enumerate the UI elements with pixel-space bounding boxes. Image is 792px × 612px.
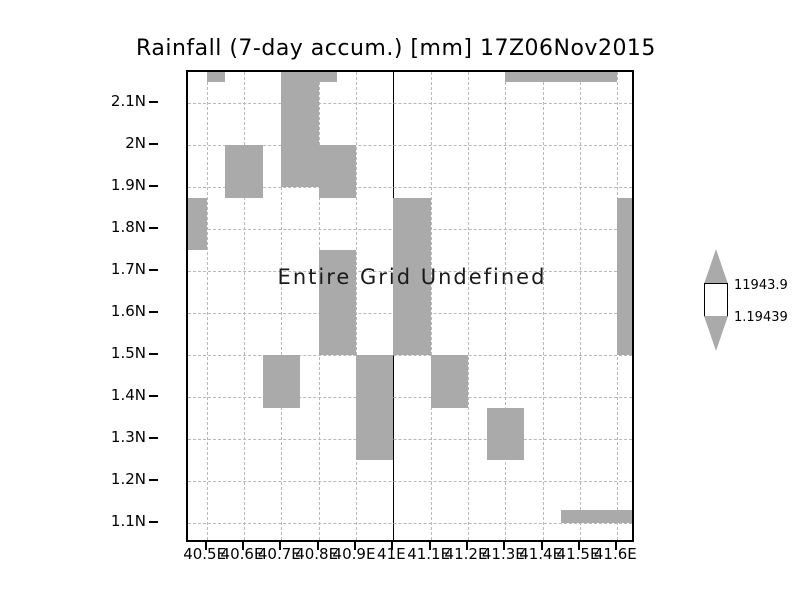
gridline-horizontal (188, 481, 632, 482)
gridline-vertical (580, 72, 581, 540)
colorbar-box (704, 283, 728, 317)
gridline-vertical (356, 72, 357, 540)
x-axis-label: 41.6E (588, 545, 642, 563)
page-title: Rainfall (7-day accum.) [mm] 17Z06Nov201… (0, 36, 792, 61)
heatmap-cell (281, 72, 337, 82)
heatmap-cell (281, 82, 318, 187)
undefined-notice: Entire Grid Undefined (188, 265, 634, 289)
y-axis-label: 1.2N (66, 470, 146, 488)
colorbar-low-label: 1.19439 (734, 310, 788, 325)
heatmap-cell (487, 408, 524, 460)
y-axis-label: 1.1N (66, 512, 146, 530)
y-axis-label: 2N (66, 134, 146, 152)
heatmap-cell (225, 145, 262, 197)
heatmap-cell (319, 145, 356, 197)
heatmap-cell (207, 72, 226, 82)
y-axis-label: 1.6N (66, 302, 146, 320)
y-axis-label: 1.3N (66, 428, 146, 446)
y-axis-label: 1.9N (66, 176, 146, 194)
y-axis-tick (149, 227, 158, 229)
gridline-vertical (543, 72, 544, 540)
gridline-horizontal (188, 103, 632, 104)
heatmap-cell (431, 355, 468, 407)
y-axis-label: 1.4N (66, 386, 146, 404)
colorbar-arrow-up-icon (704, 249, 728, 284)
colorbar-legend[interactable]: 11943.9 1.19439 (704, 250, 728, 350)
y-axis-tick (149, 479, 158, 481)
colorbar-arrow-down-icon (704, 316, 728, 351)
heatmap-cell (505, 72, 617, 82)
y-axis-tick (149, 185, 158, 187)
chart-canvas: Rainfall (7-day accum.) [mm] 17Z06Nov201… (0, 0, 792, 612)
colorbar-high-label: 11943.9 (734, 278, 788, 293)
plot-area[interactable]: Entire Grid Undefined (186, 70, 634, 542)
gridline-vertical (207, 72, 208, 540)
heatmap-cell (561, 510, 634, 523)
gridline-horizontal (188, 523, 632, 524)
gridline-horizontal (188, 439, 632, 440)
gridline-vertical (244, 72, 245, 540)
y-axis-label: 1.7N (66, 260, 146, 278)
y-axis-label: 2.1N (66, 92, 146, 110)
y-axis-label: 1.8N (66, 218, 146, 236)
y-axis-label: 1.5N (66, 344, 146, 362)
heatmap-cell (356, 355, 393, 460)
gridline-vertical (505, 72, 506, 540)
gridline-vertical (431, 72, 432, 540)
y-axis-tick (149, 311, 158, 313)
gridline-horizontal (188, 397, 632, 398)
y-axis-tick (149, 143, 158, 145)
y-axis-tick (149, 521, 158, 523)
heatmap-cell (393, 198, 430, 250)
y-axis-tick (149, 395, 158, 397)
gridline-vertical (468, 72, 469, 540)
y-axis-tick (149, 101, 158, 103)
heatmap-cell (188, 198, 207, 250)
gridline-horizontal (188, 355, 632, 356)
y-axis-tick (149, 437, 158, 439)
y-axis-tick (149, 269, 158, 271)
y-axis-tick (149, 353, 158, 355)
plot-inner: Entire Grid Undefined (188, 72, 632, 540)
heatmap-cell (263, 355, 300, 407)
